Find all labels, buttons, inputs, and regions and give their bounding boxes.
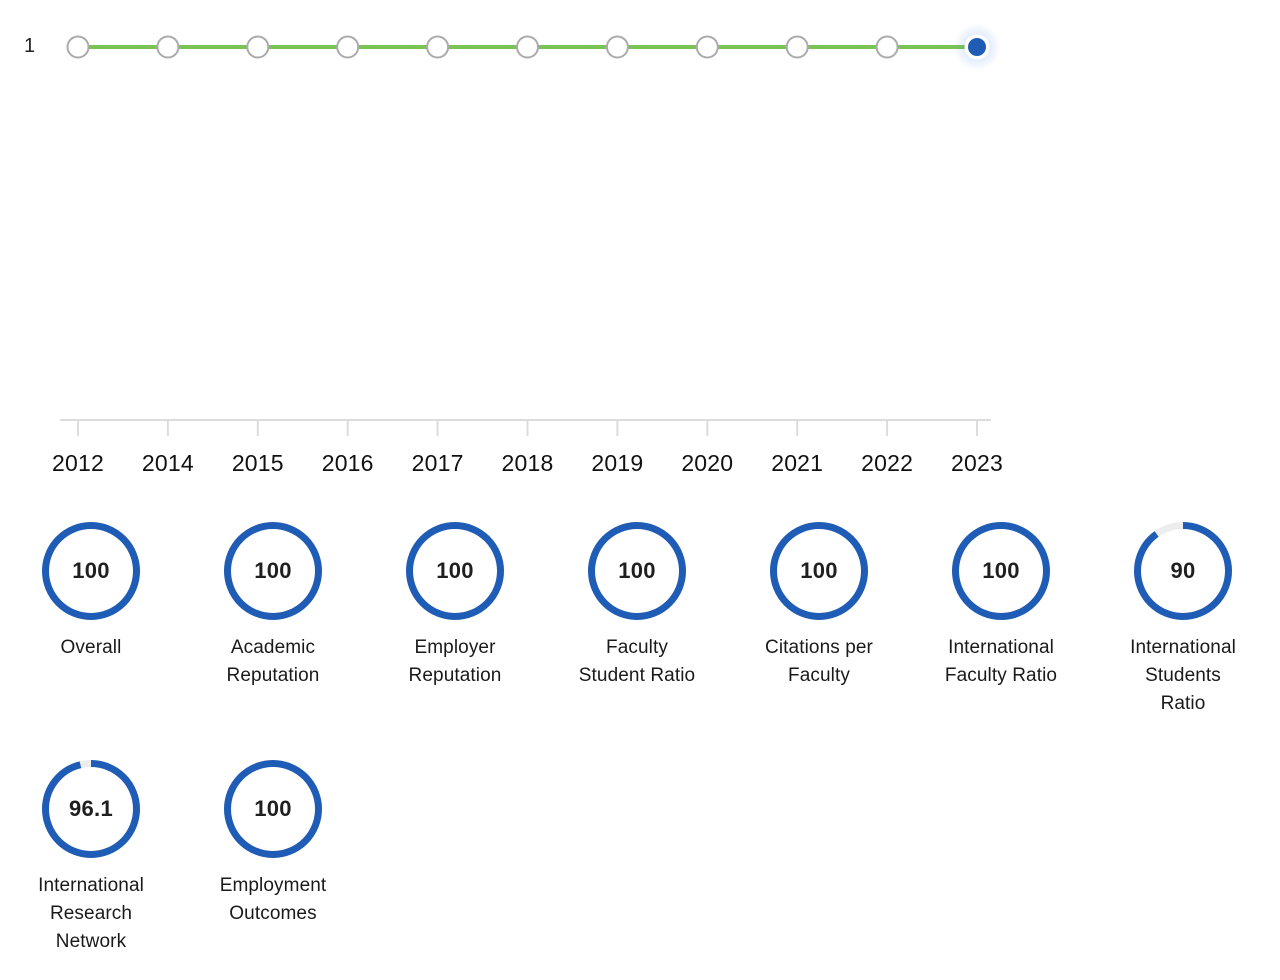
year-label: 2016 <box>322 448 374 478</box>
donut-score-value: 96.1 <box>69 798 113 820</box>
timeline-node[interactable] <box>607 37 628 58</box>
indicator-card[interactable]: 100EmploymentOutcomes <box>182 758 364 928</box>
indicator-card[interactable]: 100EmployerReputation <box>364 520 546 690</box>
donut-gauge: 100 <box>950 520 1052 622</box>
donut-score-value: 100 <box>618 560 656 582</box>
indicator-label: EmploymentOutcomes <box>220 872 327 928</box>
timeline-track[interactable] <box>0 0 1050 96</box>
year-axis-labels: 2012201420152016201720182019202020212022… <box>0 448 1050 488</box>
indicator-grid: 100Overall100AcademicReputation100Employ… <box>0 520 1280 980</box>
year-label: 2020 <box>681 448 733 478</box>
donut-score-value: 90 <box>1170 560 1195 582</box>
timeline-node[interactable] <box>787 37 808 58</box>
indicator-label: AcademicReputation <box>227 634 320 690</box>
indicator-label: EmployerReputation <box>409 634 502 690</box>
year-label: 2019 <box>591 448 643 478</box>
year-label: 2012 <box>52 448 104 478</box>
indicator-card[interactable]: 96.1InternationalResearchNetwork <box>0 758 182 956</box>
year-label: 2021 <box>771 448 823 478</box>
timeline-node[interactable] <box>157 37 178 58</box>
year-label: 2023 <box>951 448 1003 478</box>
indicator-card[interactable]: 90InternationalStudentsRatio <box>1092 520 1274 718</box>
donut-gauge: 100 <box>586 520 688 622</box>
donut-gauge: 100 <box>404 520 506 622</box>
donut-score-value: 100 <box>72 560 110 582</box>
timeline-node[interactable] <box>517 37 538 58</box>
timeline-node[interactable] <box>68 37 89 58</box>
timeline-node-current[interactable] <box>968 38 986 56</box>
indicator-card[interactable]: 100FacultyStudent Ratio <box>546 520 728 690</box>
donut-gauge: 100 <box>768 520 870 622</box>
donut-score-value: 100 <box>436 560 474 582</box>
timeline-node[interactable] <box>427 37 448 58</box>
indicator-label: InternationalResearchNetwork <box>38 872 144 956</box>
timeline-node[interactable] <box>877 37 898 58</box>
indicator-card[interactable]: 100InternationalFaculty Ratio <box>910 520 1092 690</box>
year-label: 2018 <box>502 448 554 478</box>
rank-timeline: 1 <box>0 0 1280 96</box>
year-label: 2022 <box>861 448 913 478</box>
indicator-label: Citations perFaculty <box>765 634 873 690</box>
donut-score-value: 100 <box>800 560 838 582</box>
year-label: 2017 <box>412 448 464 478</box>
timeline-node[interactable] <box>247 37 268 58</box>
timeline-node[interactable] <box>337 37 358 58</box>
donut-score-value: 100 <box>254 798 292 820</box>
timeline-node[interactable] <box>697 37 718 58</box>
indicator-card[interactable]: 100AcademicReputation <box>182 520 364 690</box>
donut-score-value: 100 <box>982 560 1020 582</box>
indicator-label: InternationalFaculty Ratio <box>945 634 1057 690</box>
indicator-row: 100Overall100AcademicReputation100Employ… <box>0 520 1280 718</box>
donut-gauge: 100 <box>222 520 324 622</box>
year-label: 2014 <box>142 448 194 478</box>
year-axis-ticks <box>0 412 1050 448</box>
indicator-label: FacultyStudent Ratio <box>579 634 695 690</box>
indicator-card[interactable]: 100Citations perFaculty <box>728 520 910 690</box>
donut-gauge: 96.1 <box>40 758 142 860</box>
year-label: 2015 <box>232 448 284 478</box>
year-axis: 2012201420152016201720182019202020212022… <box>0 412 1050 492</box>
indicator-label: Overall <box>61 634 122 662</box>
indicator-label: InternationalStudentsRatio <box>1130 634 1236 718</box>
timeline-svg <box>0 0 1050 96</box>
indicator-card[interactable]: 100Overall <box>0 520 182 662</box>
donut-gauge: 90 <box>1132 520 1234 622</box>
donut-gauge: 100 <box>222 758 324 860</box>
donut-gauge: 100 <box>40 520 142 622</box>
donut-score-value: 100 <box>254 560 292 582</box>
indicator-row: 96.1InternationalResearchNetwork100Emplo… <box>0 758 1280 956</box>
